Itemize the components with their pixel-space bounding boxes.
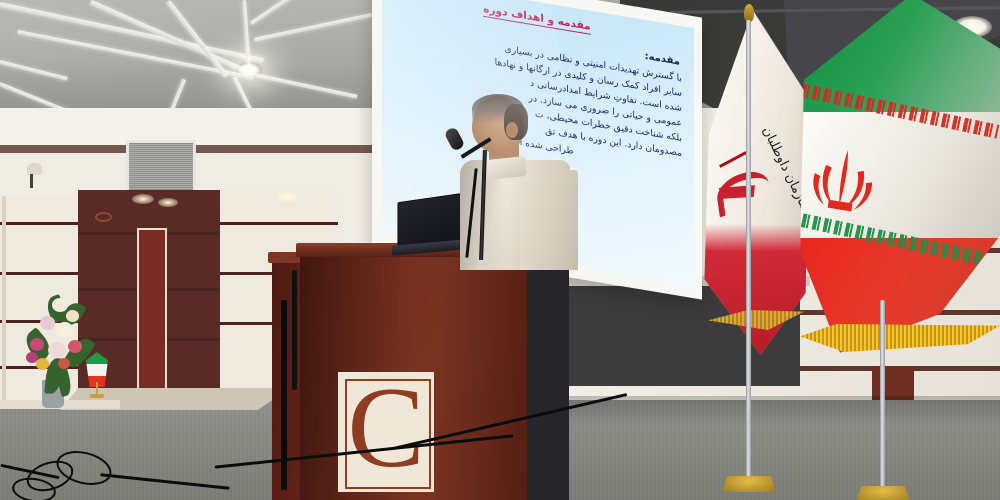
flower-bloom: [56, 322, 73, 337]
iran-flag-fringe: [800, 324, 1000, 352]
ceiling-spot-glow: [276, 192, 298, 202]
flower-bloom: [36, 358, 49, 370]
iran-flag-base: [856, 486, 910, 500]
flower-bloom: [58, 358, 70, 369]
wall-panel-seam: [0, 272, 80, 275]
flower-bloom: [26, 352, 38, 363]
wall-sconce-arm: [30, 174, 33, 188]
hvac-grille: [126, 140, 196, 193]
organization-flag-base: [722, 476, 776, 492]
ceiling-spot-glow: [158, 198, 178, 207]
flower-bloom: [52, 298, 68, 312]
podium-cable: [281, 300, 287, 490]
flower-bloom: [40, 316, 55, 330]
wall-panel-seam: [0, 222, 80, 225]
flower-bloom: [66, 310, 79, 322]
podium-cable: [292, 270, 297, 390]
wall-panel-seam: [220, 222, 338, 225]
organization-flag-fringe: [706, 310, 806, 330]
foliage: [55, 365, 74, 397]
iran-national-flag: [800, 0, 1000, 414]
speaker-collar: [485, 156, 527, 180]
speaker-lower-body: [527, 268, 569, 500]
iran-flag-emblem-icon: [810, 144, 880, 218]
lectern-logo-letter: C: [345, 366, 427, 490]
allah-emblem-svg: [810, 144, 880, 218]
organization-flag: سازمان داوطلبان: [700, 10, 810, 380]
organization-flag-pole: [746, 20, 751, 480]
flower-bloom: [30, 338, 44, 351]
speaker-ear: [506, 122, 518, 138]
presentation-photo: مقدمه و اهداف دوره مقدمه: با گسترش تهدید…: [0, 0, 1000, 500]
flower-bloom: [48, 342, 66, 358]
ceiling-spot-glow: [132, 194, 154, 204]
wall-panel-divider: [2, 196, 6, 404]
iran-flag-pole: [880, 300, 885, 500]
wall-accent-column: [137, 228, 167, 408]
ceiling-light-hub: [236, 62, 262, 78]
flower-bloom: [68, 340, 82, 353]
desk-flag-base: [90, 394, 104, 398]
iran-desk-flag: [86, 352, 112, 398]
wall-handle: [95, 212, 112, 222]
